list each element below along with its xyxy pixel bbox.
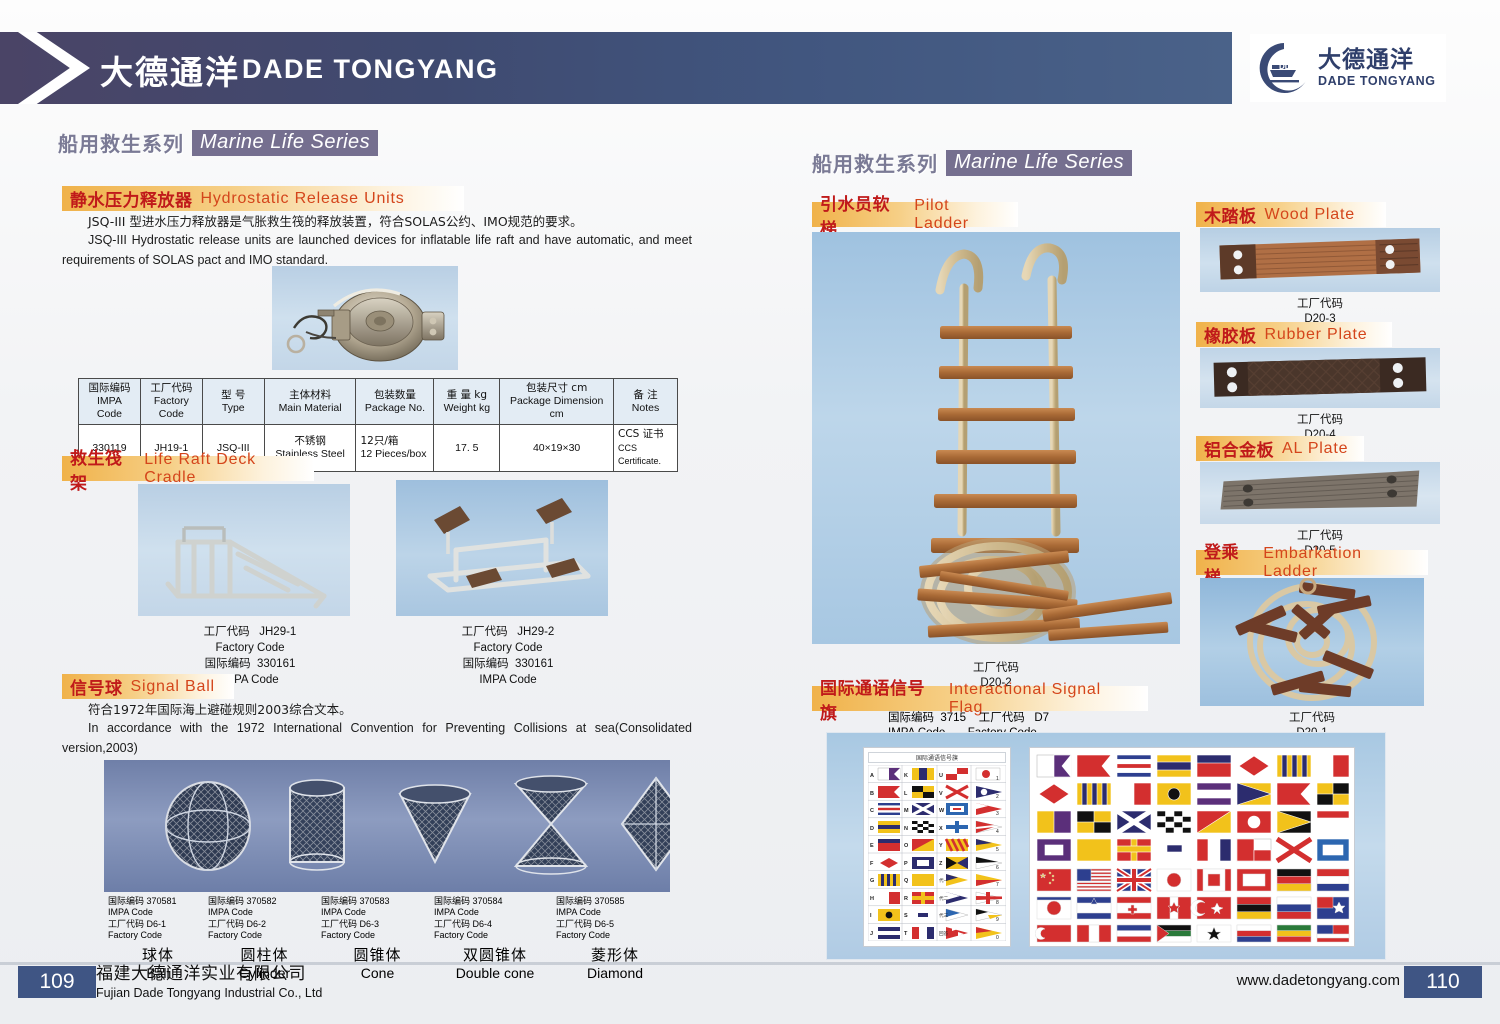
- cradle-photo-1: [138, 484, 350, 616]
- svg-text:K: K: [904, 773, 908, 779]
- cell-dimension: 40×19×30: [500, 425, 614, 471]
- flag-chart-title: 国际通语信号旗: [868, 752, 1006, 763]
- wood-plate-photo: [1200, 228, 1440, 292]
- signal-flag-chart: 国际通语信号旗 ABCDE FGHIJ KLMNO PQRST UVWXY Z: [863, 747, 1011, 947]
- svg-text:5: 5: [996, 847, 999, 853]
- signal-ball-title-en: Signal Ball: [131, 678, 215, 696]
- hydrostatic-description: JSQ-III 型进水压力释放器是气胀救生筏的释放装置，符合SOLAS公约、IM…: [62, 212, 692, 270]
- signal-flag-poster: 国际通语信号旗 ABCDE FGHIJ KLMNO PQRST UVWXY Z: [826, 732, 1386, 960]
- svg-text:7: 7: [996, 882, 999, 888]
- company-name-cn: 福建大德通洋实业有限公司: [96, 963, 322, 985]
- svg-text:A: A: [870, 773, 874, 779]
- svg-text:P: P: [904, 861, 908, 867]
- hydrostatic-release-photo: [272, 266, 458, 370]
- wood-plate-title-en: Wood Plate: [1265, 206, 1355, 224]
- svg-text:9: 9: [996, 917, 999, 923]
- signal-ball-caption-2: 国际编码 370583 IMPA Code 工厂代码 D6-3 Factory …: [321, 896, 434, 981]
- svg-text:0: 0: [996, 935, 999, 941]
- website-url[interactable]: www.dadetongyang.com: [1237, 972, 1400, 989]
- th-material: 主体材料 Main Material: [264, 379, 356, 425]
- svg-text:F: F: [870, 861, 874, 867]
- th-type: 型 号 Type: [202, 379, 264, 425]
- svg-text:T: T: [904, 931, 908, 937]
- svg-text:代二: 代二: [939, 895, 949, 902]
- rubber-plate-title-cn: 橡胶板: [1204, 322, 1257, 347]
- svg-text:3: 3: [996, 811, 999, 817]
- svg-text:8: 8: [996, 900, 999, 906]
- section-title-cn: 静水压力释放器: [70, 186, 193, 211]
- signal-ball-title-cn: 信号球: [70, 674, 123, 699]
- logo-text-en: DADE TONGYANG: [1318, 74, 1436, 88]
- section-title-en: Hydrostatic Release Units: [201, 190, 405, 208]
- svg-text:DDTY: DDTY: [1279, 62, 1301, 71]
- section-title-signal-ball: 信号球 Signal Ball: [62, 674, 234, 699]
- embarkation-title-en: Embarkation Ladder: [1263, 545, 1418, 581]
- section-title-al-plate: 铝合金板 AL Plate: [1196, 436, 1364, 461]
- hydrostatic-desc-en: JSQ-III Hydrostatic release units are la…: [62, 231, 692, 270]
- th-package: 包装数量 Package No.: [356, 379, 434, 425]
- th-dimension: 包装尺寸 cm Package Dimension cm: [500, 379, 614, 425]
- svg-text:回答: 回答: [939, 930, 949, 937]
- flag-chart-grid: ABCDE FGHIJ KLMNO PQRST UVWXY Z: [868, 765, 1006, 941]
- svg-text:Z: Z: [939, 861, 943, 867]
- section-title-embarkation-ladder: 登乘梯 Embarkation Ladder: [1196, 550, 1428, 575]
- svg-text:R: R: [904, 896, 908, 902]
- svg-text:V: V: [939, 791, 943, 797]
- section-title-rubber-plate: 橡胶板 Rubber Plate: [1196, 322, 1392, 347]
- section-title-wood-plate: 木踏板 Wood Plate: [1196, 202, 1386, 227]
- cradle-caption-2: 工厂代码 JH29-2 Factory Code 国际编码 330161 IMP…: [408, 624, 608, 688]
- svg-text:O: O: [904, 843, 909, 849]
- series-title-cn: 船用救生系列: [58, 128, 184, 157]
- wood-plate-title-cn: 木踏板: [1204, 202, 1257, 227]
- svg-text:E: E: [870, 843, 874, 849]
- cradle-title-cn: 救生筏架: [70, 444, 136, 494]
- section-title-cradle: 救生筏架 Life Raft Deck Cradle: [62, 456, 314, 481]
- signal-ball-caption-3: 国际编码 370584 IMPA Code 工厂代码 D6-4 Factory …: [434, 896, 556, 981]
- company-logo: DDTY 大德通洋 DADE TONGYANG: [1250, 34, 1446, 102]
- rubber-plate-title-en: Rubber Plate: [1265, 326, 1368, 344]
- al-plate-title-en: AL Plate: [1282, 440, 1348, 458]
- company-name-en: Fujian Dade Tongyang Industrial Co., Ltd: [96, 985, 322, 1001]
- svg-text:M: M: [904, 808, 909, 814]
- signal-ball-description: 符合1972年国际海上避碰规则2003综合文本。 In accordance w…: [62, 700, 692, 758]
- national-flag-chart: [1029, 747, 1355, 947]
- page-number-right: 110: [1404, 966, 1482, 998]
- th-impa: 国际编码IMPACode: [79, 379, 141, 425]
- al-plate-photo: [1200, 462, 1440, 524]
- series-title-cn-right: 船用救生系列: [812, 148, 938, 177]
- series-title-en: Marine Life Series: [192, 130, 378, 156]
- series-title-en-right: Marine Life Series: [946, 150, 1132, 176]
- svg-text:代一: 代一: [939, 877, 949, 884]
- cell-package: 12只/箱 12 Pieces/box: [356, 425, 434, 471]
- svg-text:W: W: [939, 808, 945, 814]
- svg-text:C: C: [870, 808, 874, 814]
- series-header-left: 船用救生系列 Marine Life Series: [58, 128, 378, 157]
- ddty-circle-ship-icon: DDTY: [1256, 40, 1312, 96]
- section-title-pilot-ladder: 引水员软梯 Pilot Ladder: [812, 202, 1018, 227]
- flag-chart-grid-2: [1035, 753, 1351, 943]
- series-header-right: 船用救生系列 Marine Life Series: [812, 148, 1132, 177]
- hydrostatic-desc-cn: JSQ-III 型进水压力释放器是气胀救生筏的释放装置，符合SOLAS公约、IM…: [62, 212, 692, 231]
- brand-name-en: DADE TONGYANG: [242, 54, 499, 85]
- svg-text:4: 4: [996, 829, 999, 835]
- svg-text:X: X: [939, 826, 943, 832]
- logo-text-cn: 大德通洋: [1318, 48, 1436, 72]
- company-footer: 福建大德通洋实业有限公司 Fujian Dade Tongyang Indust…: [96, 963, 322, 1001]
- svg-text:6: 6: [996, 865, 999, 871]
- rubber-plate-photo: [1200, 348, 1440, 408]
- cell-weight: 17. 5: [434, 425, 500, 471]
- svg-text:N: N: [904, 826, 908, 832]
- svg-text:L: L: [904, 791, 908, 797]
- svg-text:H: H: [870, 896, 874, 902]
- signal-balls-photo: [104, 760, 670, 892]
- th-weight: 重 量 kg Weight kg: [434, 379, 500, 425]
- svg-text:B: B: [870, 791, 874, 797]
- svg-text:I: I: [870, 913, 872, 919]
- page-number-left: 109: [18, 966, 96, 998]
- signal-ball-desc-cn: 符合1972年国际海上避碰规则2003综合文本。: [62, 700, 692, 719]
- brand-name-cn: 大德通洋: [100, 46, 240, 94]
- svg-text:D: D: [870, 826, 874, 832]
- pilot-ladder-title-en: Pilot Ladder: [914, 197, 1008, 233]
- al-plate-title-cn: 铝合金板: [1204, 436, 1274, 461]
- table-header-row: 国际编码IMPACode 工厂代码FactoryCode 型 号 Type 主体…: [79, 379, 678, 425]
- svg-text:G: G: [870, 878, 874, 884]
- svg-text:S: S: [904, 913, 908, 919]
- pilot-ladder-photo: [812, 232, 1180, 644]
- svg-text:Q: Q: [904, 878, 909, 884]
- svg-text:代三: 代三: [939, 912, 949, 919]
- cradle-photo-2: [396, 480, 608, 616]
- svg-text:2: 2: [996, 794, 999, 800]
- section-title-signal-flag: 国际通语信号旗 Interactional Signal Flag: [812, 686, 1148, 711]
- cradle-title-en: Life Raft Deck Cradle: [144, 451, 304, 487]
- svg-text:U: U: [939, 773, 943, 779]
- svg-text:J: J: [870, 931, 873, 937]
- svg-text:1: 1: [996, 776, 999, 782]
- signal-ball-desc-en: In accordance with the 1972 Internationa…: [62, 719, 692, 758]
- catalog-page: 大德通洋 DADE TONGYANG DDTY 大德通洋 DADE TONGYA…: [0, 0, 1500, 1024]
- th-notes: 备 注 Notes: [614, 379, 678, 425]
- th-factory: 工厂代码FactoryCode: [140, 379, 202, 425]
- svg-text:Y: Y: [939, 843, 943, 849]
- embarkation-ladder-photo: [1200, 578, 1424, 706]
- cell-notes: CCS 证书 CCS Certificate.: [614, 425, 678, 471]
- section-title-hydrostatic: 静水压力释放器 Hydrostatic Release Units: [62, 186, 464, 211]
- signal-ball-caption-4: 国际编码 370585 IMPA Code 工厂代码 D6-5 Factory …: [556, 896, 674, 981]
